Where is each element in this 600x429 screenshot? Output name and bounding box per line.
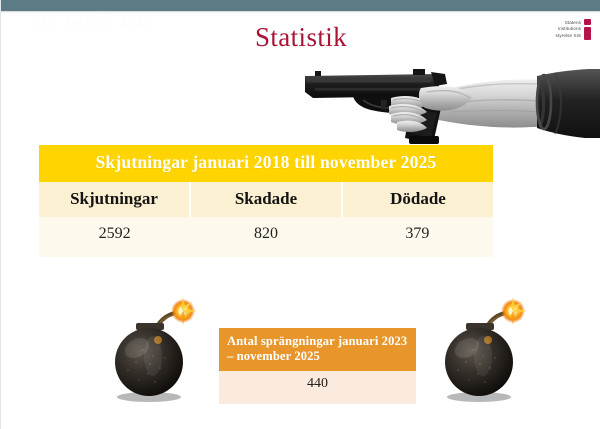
sis-logo-i-stem <box>584 27 591 40</box>
slide-canvas: SiS statistik 2025 Statistik Statens ins… <box>0 0 600 429</box>
shootings-table-column-row: Skjutningar Skadade Dödade <box>39 182 493 217</box>
top-accent-bar-shadow <box>1 11 600 13</box>
bomb-icon-right <box>433 290 529 402</box>
shootings-table: Skjutningar januari 2018 till november 2… <box>39 145 493 257</box>
shootings-table-value-row: 2592 820 379 <box>39 217 493 257</box>
sis-logo-i-dot <box>584 19 591 25</box>
sis-logo-line-2: institutions <box>556 26 581 32</box>
value-dodade: 379 <box>342 217 493 257</box>
sis-logo-text: Statens institutions styrelse SiS <box>556 20 581 39</box>
column-header-skjutningar: Skjutningar <box>39 182 191 217</box>
sis-logo: Statens institutions styrelse SiS <box>556 19 592 40</box>
pistol-in-hand-photo <box>293 52 600 148</box>
column-header-dodade: Dödade <box>343 182 493 217</box>
page-title: Statistik <box>1 22 600 53</box>
sis-logo-i-mark-icon <box>583 19 592 40</box>
explosions-box: Antal sprängningar januari 2023 – novemb… <box>219 328 416 404</box>
value-skadade: 820 <box>190 217 341 257</box>
value-skjutningar: 2592 <box>39 217 190 257</box>
sis-logo-line-3: styrelse SiS <box>556 33 581 39</box>
explosions-box-header: Antal sprängningar januari 2023 – novemb… <box>219 328 416 371</box>
shootings-table-header: Skjutningar januari 2018 till november 2… <box>39 145 493 182</box>
bomb-icon-left <box>103 290 199 402</box>
column-header-skadade: Skadade <box>191 182 343 217</box>
top-accent-bar <box>1 0 600 11</box>
explosions-box-value: 440 <box>219 371 416 404</box>
